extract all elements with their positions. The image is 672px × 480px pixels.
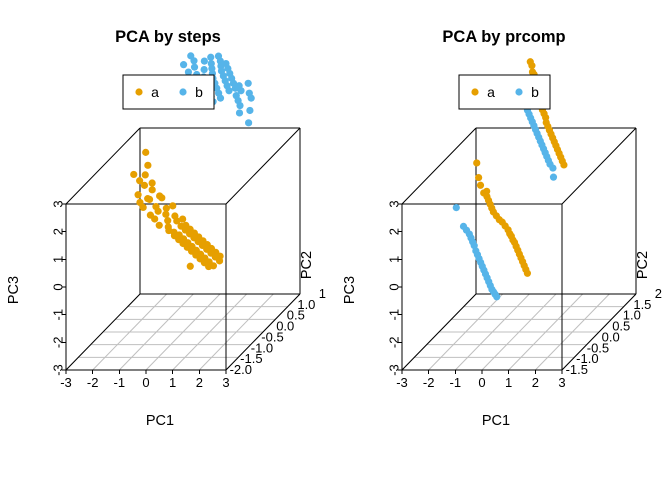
scatter-point — [155, 208, 162, 215]
x-tick-label: 0 — [142, 375, 149, 390]
z-axis-title-left: PC3 — [6, 276, 22, 304]
scatter-point — [236, 102, 243, 109]
z-tick-label: -2 — [51, 337, 66, 349]
scatter-point — [493, 293, 500, 300]
x-tick-label: -2 — [87, 375, 99, 390]
z-tick-label: 1 — [51, 256, 66, 263]
scatter-point — [144, 162, 151, 169]
plot-svg-left: PCA by steps -3-2-101233210-1-2-311.00.5… — [0, 0, 336, 480]
z-tick-label: 1 — [387, 256, 402, 263]
z-tick-label: 3 — [51, 200, 66, 207]
scatter-point — [146, 196, 153, 203]
scatter-point — [524, 270, 531, 277]
scatter-point — [156, 222, 163, 229]
y-tick-label: -1.5 — [566, 362, 588, 377]
y-axis-title-left: PC2 — [299, 251, 315, 279]
scatter-point — [550, 174, 557, 181]
scatter-point — [201, 66, 208, 73]
x-tick-label: 3 — [222, 375, 229, 390]
scatter-point — [216, 257, 223, 264]
z-tick-label: -3 — [51, 364, 66, 376]
scatter-point — [201, 57, 208, 64]
z-tick-label: -3 — [387, 364, 402, 376]
z-tick-label: -2 — [387, 337, 402, 349]
panel-title-left: PCA by steps — [115, 28, 221, 46]
scatter-point — [162, 211, 169, 218]
y-tick-label: 1 — [319, 286, 326, 301]
scatter-point — [191, 64, 198, 71]
z-axis-title-right: PC3 — [342, 276, 358, 304]
scatter-point — [190, 57, 197, 64]
scatter-point — [140, 204, 147, 211]
scatter-point — [207, 54, 214, 61]
scatter-point — [245, 80, 252, 87]
figure-root: PCA by steps -3-2-101233210-1-2-311.00.5… — [0, 0, 672, 480]
legend-right[interactable]: ab — [459, 75, 550, 109]
scatter-point — [149, 179, 156, 186]
z-tick-label: 3 — [387, 200, 402, 207]
legend-left[interactable]: ab — [123, 75, 214, 109]
panel-title-right: PCA by prcomp — [442, 28, 565, 46]
y-tick-label: -2.0 — [230, 362, 252, 377]
x-tick-label: 2 — [196, 375, 203, 390]
legend-label-a: a — [487, 84, 495, 100]
scatter-point — [165, 227, 172, 234]
scatter-point — [473, 159, 480, 166]
x-tick-label: 3 — [558, 375, 565, 390]
scatter-point — [169, 202, 176, 209]
z-tick-label: -1 — [387, 309, 402, 321]
scatter-point — [180, 61, 187, 68]
scatter-point — [549, 164, 556, 171]
panel-pca-by-steps: PCA by steps -3-2-101233210-1-2-311.00.5… — [0, 0, 336, 480]
scatter-point — [560, 161, 567, 168]
y-axis-title-right: PC2 — [635, 251, 651, 279]
scatter-point — [142, 171, 149, 178]
scatter-point — [245, 119, 252, 126]
y-tick-label: 2 — [655, 286, 662, 301]
x-tick-label: -3 — [396, 375, 408, 390]
scatter-point — [158, 194, 165, 201]
x-tick-label: -1 — [114, 375, 126, 390]
legend-label-a: a — [151, 84, 159, 100]
z-tick-label: -1 — [51, 309, 66, 321]
scatter-point — [528, 62, 535, 69]
x-tick-label: -2 — [423, 375, 435, 390]
scatter-point — [151, 215, 158, 222]
legend-marker-b[interactable] — [515, 88, 522, 95]
z-tick-label: 0 — [387, 283, 402, 290]
scatter-point — [149, 186, 156, 193]
panel-pca-by-prcomp: PCA by prcomp -3-2-101233210-1-2-321.51.… — [336, 0, 672, 480]
x-tick-label: -3 — [60, 375, 72, 390]
legend-label-b: b — [195, 84, 203, 100]
legend-label-b: b — [531, 84, 539, 100]
z-tick-label: 2 — [51, 228, 66, 235]
z-tick-label: 2 — [387, 228, 402, 235]
z-tick-label: 0 — [51, 283, 66, 290]
scatter-point — [134, 191, 141, 198]
scatter-point — [225, 87, 232, 94]
x-tick-label: 1 — [505, 375, 512, 390]
legend-marker-a[interactable] — [471, 88, 478, 95]
x-tick-label: 2 — [532, 375, 539, 390]
scatter-point — [248, 95, 255, 102]
scatter-point — [164, 217, 171, 224]
x-axis-title-left: PC1 — [146, 413, 174, 429]
scatter-point — [141, 182, 148, 189]
scatter-point — [130, 171, 137, 178]
scatter-point — [475, 174, 482, 181]
plot-svg-right: PCA by prcomp -3-2-101233210-1-2-321.51.… — [336, 0, 672, 480]
x-tick-label: 1 — [169, 375, 176, 390]
x-tick-label: -1 — [450, 375, 462, 390]
scatter-point — [142, 149, 149, 156]
scatter-point — [217, 95, 224, 102]
legend-marker-b[interactable] — [179, 88, 186, 95]
scatter-point — [477, 182, 484, 189]
x-axis-title-right: PC1 — [482, 413, 510, 429]
scatter-point — [453, 204, 460, 211]
x-tick-label: 0 — [478, 375, 485, 390]
scatter-point — [187, 263, 194, 270]
scatter-point — [246, 107, 253, 114]
scatter-point — [205, 263, 212, 270]
scatter-point — [236, 109, 243, 116]
legend-marker-a[interactable] — [135, 88, 142, 95]
